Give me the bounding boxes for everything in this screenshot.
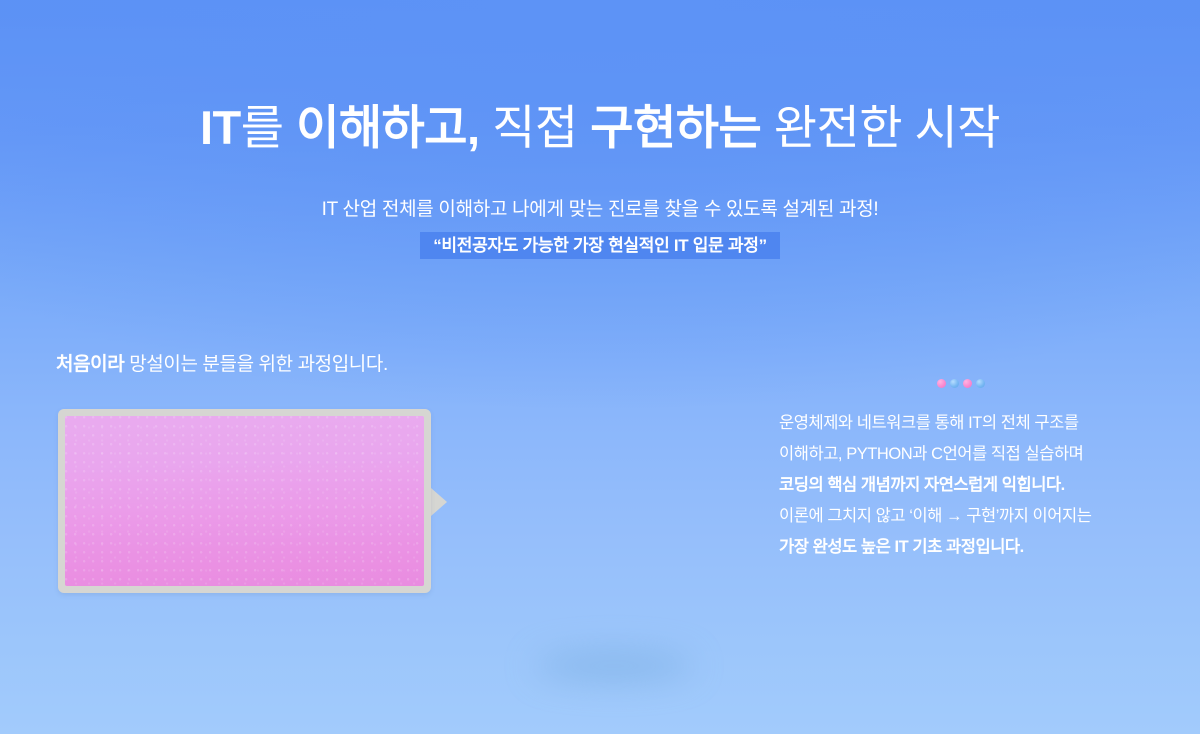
description-line-5: 가장 완성도 높은 IT 기초 과정입니다. (779, 532, 1151, 563)
description-line-4: 이론에 그치지 않고 ‘이해 → 구현’까지 이어지는 (779, 501, 1151, 532)
decorative-dot-row (937, 379, 985, 388)
dot-pink-2 (963, 379, 972, 388)
card-inner-surface (65, 416, 424, 586)
description-line-2: 이해하고, PYTHON과 C언어를 직접 실습하며 (779, 439, 1151, 470)
description-line-1: 운영체제와 네트워크를 통해 IT의 전체 구조를 (779, 408, 1151, 439)
description-line-3: 코딩의 핵심 개념까지 자연스럽게 익힙니다. (779, 470, 1151, 501)
section-lead-text: 처음이라 망설이는 분들을 위한 과정입니다. (56, 350, 388, 379)
dot-blue-1 (950, 379, 959, 388)
pink-highlight-card (58, 409, 431, 593)
page-title: IT를 이해하고, 직접 구현하는 완전한 시작 (0, 98, 1200, 158)
hero-quote-highlight: “비전공자도 가능한 가장 현실적인 IT 입문 과정” (420, 232, 780, 259)
hero-subtitle: IT 산업 전체를 이해하고 나에게 맞는 진로를 찾을 수 있도록 설계된 과… (0, 196, 1200, 224)
dot-pink-1 (937, 379, 946, 388)
hero-quote-container: “비전공자도 가능한 가장 현실적인 IT 입문 과정” (0, 232, 1200, 259)
dot-blue-2 (976, 379, 985, 388)
blurred-background-shape (534, 652, 694, 680)
course-description: 운영체제와 네트워크를 통해 IT의 전체 구조를이해하고, PYTHON과 C… (779, 408, 1151, 563)
